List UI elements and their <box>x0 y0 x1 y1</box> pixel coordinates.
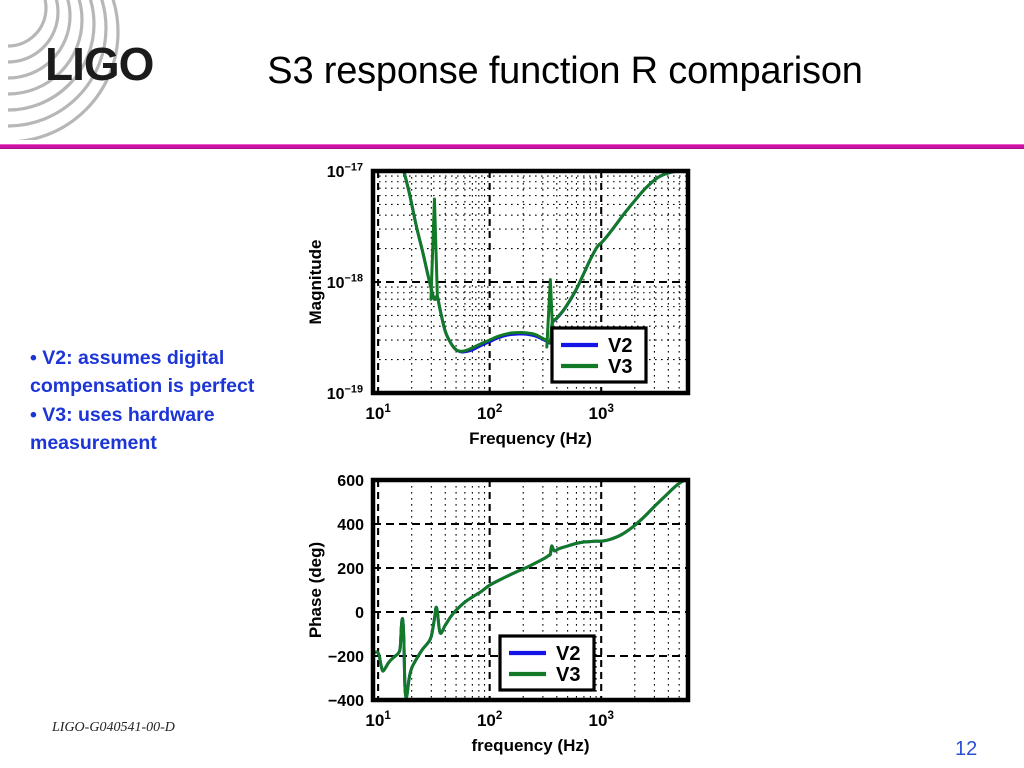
legend: V2V3 <box>500 636 594 690</box>
magnitude-plot: 10−1910−1810−17101102103Frequency (Hz)Ma… <box>288 150 708 450</box>
y-axis-label: Phase (deg) <box>306 542 325 638</box>
legend-label-v2: V2 <box>608 335 632 357</box>
ligo-logo: LIGO <box>0 0 190 140</box>
y-axis-label: Magnitude <box>306 240 325 325</box>
axis-tick-label: −200 <box>328 649 364 666</box>
legend-label-v3: V3 <box>608 356 632 378</box>
axis-tick-label: 10−19 <box>327 383 363 403</box>
x-axis-label: Frequency (Hz) <box>469 429 592 448</box>
axis-tick-label: 400 <box>337 517 364 534</box>
list-item: • V3: uses hardware measurement <box>30 401 285 458</box>
page-number: 12 <box>955 738 1005 761</box>
x-axis-label: frequency (Hz) <box>471 736 589 755</box>
header-divider <box>0 144 1024 149</box>
legend: V2V3 <box>552 328 646 382</box>
axis-tick-label: 101 <box>365 403 391 423</box>
axis-tick-label: 10−18 <box>327 272 363 292</box>
page-title: S3 response function R comparison <box>175 50 955 93</box>
chart-magnitude: 10−1910−1810−17101102103Frequency (Hz)Ma… <box>288 150 708 450</box>
axis-tick-label: 103 <box>589 710 614 730</box>
list-item: • V2: assumes digital compensation is pe… <box>30 344 285 401</box>
axis-tick-label: 600 <box>337 473 364 490</box>
axis-tick-label: −400 <box>328 693 364 710</box>
axis-tick-label: 101 <box>365 710 391 730</box>
axis-tick-label: 200 <box>337 561 364 578</box>
axis-tick-label: 103 <box>589 403 614 423</box>
axis-tick-label: 102 <box>477 403 502 423</box>
legend-label-v2: V2 <box>556 643 580 665</box>
legend-label-v3: V3 <box>556 664 580 686</box>
axis-tick-label: 0 <box>355 605 364 622</box>
logo-wordmark: LIGO <box>45 38 153 90</box>
bullet-list: • V2: assumes digital compensation is pe… <box>30 344 285 457</box>
axis-tick-label: 10−17 <box>327 161 363 181</box>
phase-plot: −400−2000200400600101102103frequency (Hz… <box>288 460 708 760</box>
ligo-logo-graphic: LIGO <box>0 0 190 140</box>
chart-phase: −400−2000200400600101102103frequency (Hz… <box>288 460 708 760</box>
axis-tick-label: 102 <box>477 710 502 730</box>
footer-document-id: LIGO-G040541-00-D <box>52 720 175 736</box>
